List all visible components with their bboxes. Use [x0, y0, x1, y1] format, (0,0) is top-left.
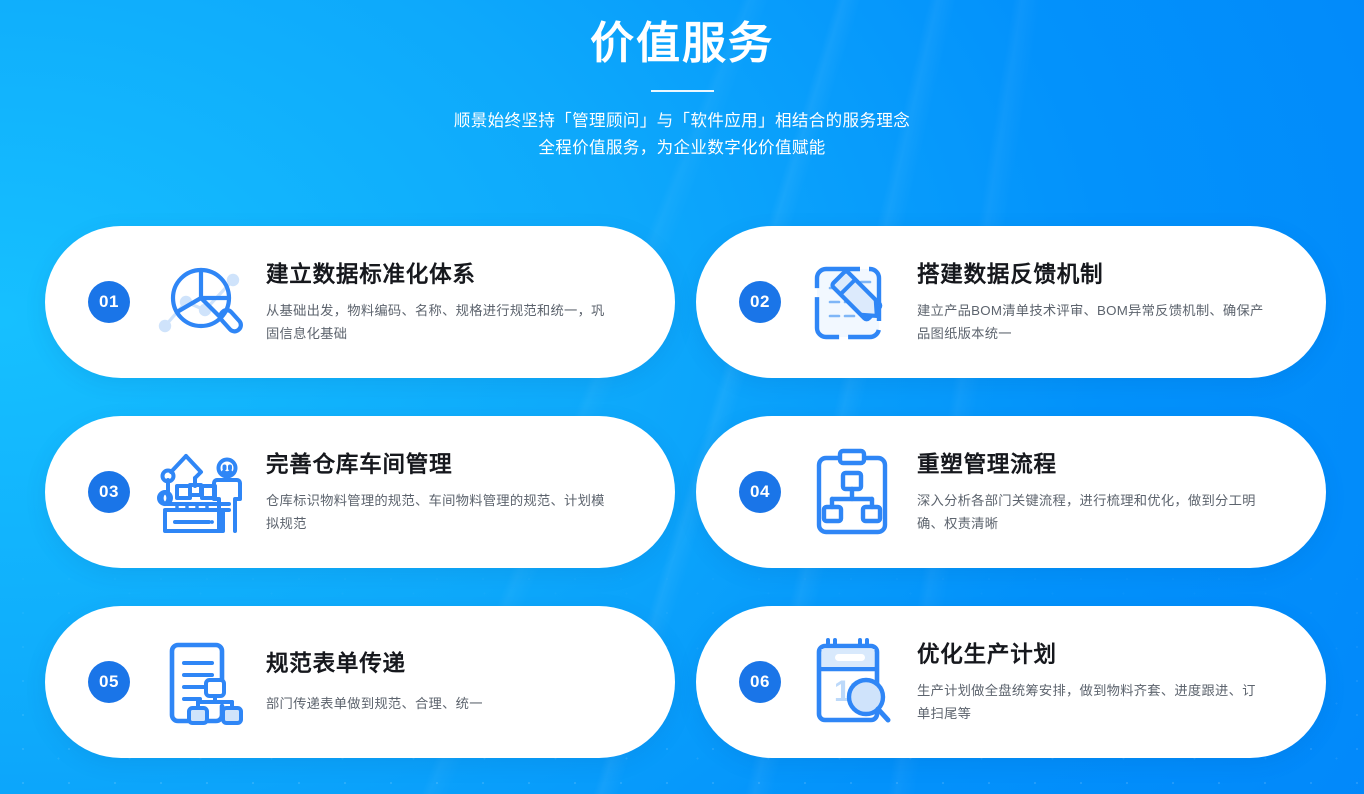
card-title: 优化生产计划 [917, 640, 1292, 670]
card-text-block: 完善仓库车间管理 仓库标识物料管理的规范、车间物料管理的规范、计划模拟规范 [266, 450, 675, 535]
card-title: 建立数据标准化体系 [266, 260, 641, 290]
document-flowchart-icon [151, 630, 255, 734]
card-title: 规范表单传递 [266, 649, 641, 679]
card-description: 深入分析各部门关键流程，进行梳理和优化，做到分工明确、权责清晰 [917, 489, 1269, 535]
subtitle-line-2: 全程价值服务，为企业数字化价值赋能 [0, 135, 1364, 162]
factory-conveyor-worker-icon [151, 440, 255, 544]
card-description: 生产计划做全盘统筹安排，做到物料齐套、进度跟进、订单扫尾等 [917, 679, 1269, 725]
pie-chart-magnifier-icon [151, 250, 255, 354]
card-title: 搭建数据反馈机制 [917, 260, 1292, 290]
service-card-06[interactable]: 06 11 优化生产计划 生产计划做全盘统筹安排，做到物料齐套、进度跟进、订单扫… [696, 606, 1326, 758]
card-number-badge: 02 [739, 281, 781, 323]
page-title: 价值服务 [0, 14, 1364, 74]
card-description: 从基础出发，物料编码、名称、规格进行规范和统一，巩固信息化基础 [266, 299, 618, 345]
card-description: 仓库标识物料管理的规范、车间物料管理的规范、计划模拟规范 [266, 489, 618, 535]
card-number-badge: 05 [88, 661, 130, 703]
title-divider [651, 90, 714, 92]
card-text-block: 重塑管理流程 深入分析各部门关键流程，进行梳理和优化，做到分工明确、权责清晰 [917, 450, 1326, 535]
subtitle-line-1: 顺景始终坚持「管理顾问」与「软件应用」相结合的服务理念 [0, 108, 1364, 135]
value-service-page: 价值服务 顺景始终坚持「管理顾问」与「软件应用」相结合的服务理念 全程价值服务，… [0, 0, 1364, 794]
card-text-block: 建立数据标准化体系 从基础出发，物料编码、名称、规格进行规范和统一，巩固信息化基… [266, 260, 675, 345]
card-text-block: 搭建数据反馈机制 建立产品BOM清单技术评审、BOM异常反馈机制、确保产品图纸版… [917, 260, 1326, 345]
clipboard-orgchart-icon [802, 440, 906, 544]
card-title: 完善仓库车间管理 [266, 450, 641, 480]
card-number-badge: 03 [88, 471, 130, 513]
service-card-03[interactable]: 03 [45, 416, 675, 568]
service-card-02[interactable]: 02 搭建数据反馈机制 建立产品BOM清单技术评审、BOM [696, 226, 1326, 378]
card-text-block: 优化生产计划 生产计划做全盘统筹安排，做到物料齐套、进度跟进、订单扫尾等 [917, 640, 1326, 725]
card-description: 部门传递表单做到规范、合理、统一 [266, 692, 618, 715]
card-title: 重塑管理流程 [917, 450, 1292, 480]
card-text-block: 规范表单传递 部门传递表单做到规范、合理、统一 [266, 649, 675, 715]
card-number-badge: 06 [739, 661, 781, 703]
pencil-document-icon [802, 250, 906, 354]
card-description: 建立产品BOM清单技术评审、BOM异常反馈机制、确保产品图纸版本统一 [917, 299, 1269, 345]
page-subtitle: 顺景始终坚持「管理顾问」与「软件应用」相结合的服务理念 全程价值服务，为企业数字… [0, 108, 1364, 162]
service-card-04[interactable]: 04 重塑管理流程 深入分析各部门关键流程，进行梳理和优化，做到分工明确、权责清… [696, 416, 1326, 568]
service-card-01[interactable]: 01 建立数据标准化体系 从基础出发，物料编码、 [45, 226, 675, 378]
card-number-badge: 01 [88, 281, 130, 323]
service-card-05[interactable]: 05 规范表单传递 部门传 [45, 606, 675, 758]
calendar-magnifier-icon: 11 [802, 630, 906, 734]
page-header: 价值服务 顺景始终坚持「管理顾问」与「软件应用」相结合的服务理念 全程价值服务，… [0, 0, 1364, 162]
service-cards-grid: 01 建立数据标准化体系 从基础出发，物料编码、 [45, 226, 1326, 758]
card-number-badge: 04 [739, 471, 781, 513]
